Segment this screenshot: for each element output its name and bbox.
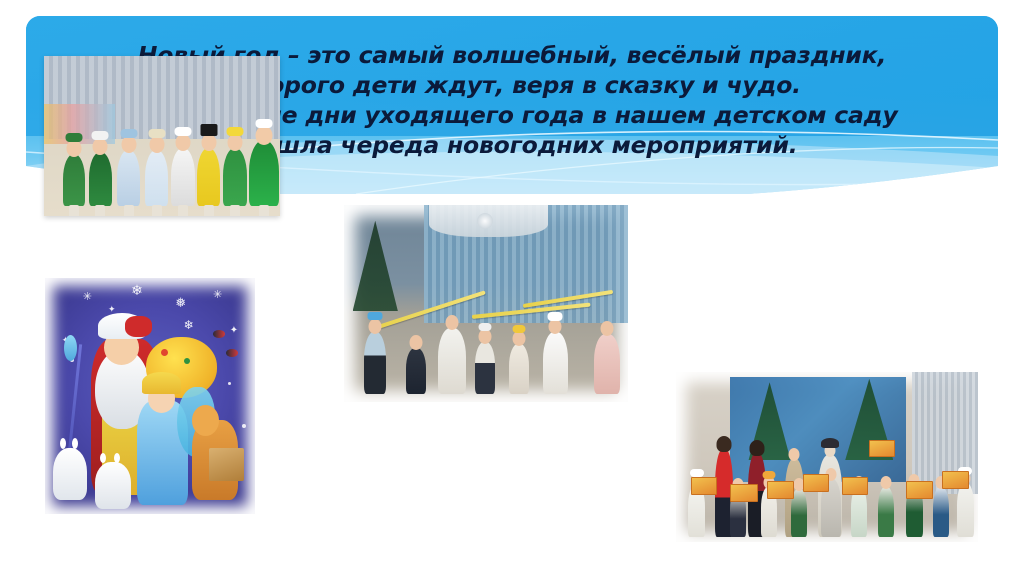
photo-ribbon-dance — [344, 205, 628, 402]
illustration-ded-moroz-snegurochka: ✳ ❄ ❅ ✳ ❄ ✦ ✦ ✦ — [45, 278, 255, 514]
slide: Новый год – это самый волшебный, весёлый… — [0, 0, 1024, 576]
photo-group-with-gifts — [676, 372, 978, 542]
photo-children-on-chairs — [44, 56, 280, 216]
